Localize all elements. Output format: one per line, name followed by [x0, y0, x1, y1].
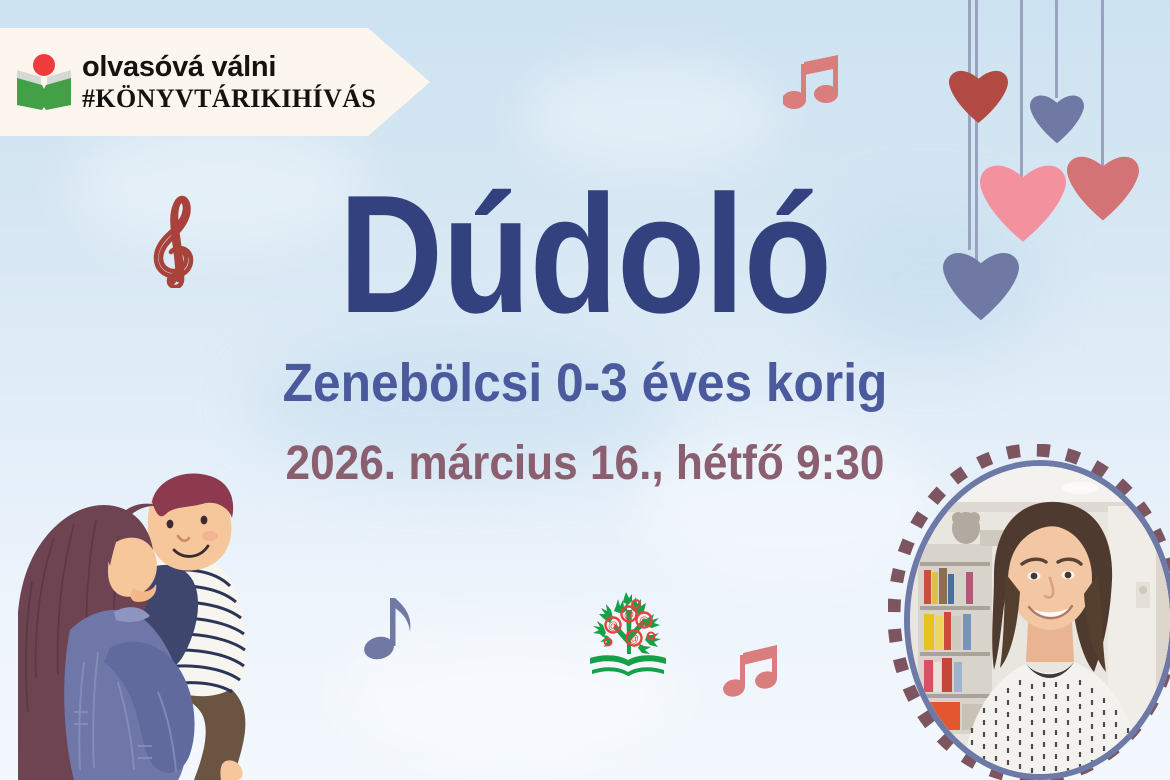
svg-text:@: @ — [624, 610, 634, 621]
treble-clef-dot — [168, 276, 176, 284]
treble-clef-path — [156, 198, 191, 287]
poster-canvas: olvasóvá válni #KÖNYVTÁRIKIHÍVÁS Dúdoló … — [0, 0, 1170, 780]
svg-text:@: @ — [639, 616, 649, 627]
heart-string — [1020, 0, 1023, 178]
child-foot — [220, 760, 242, 780]
heart-dark-red — [949, 71, 1008, 123]
music-note-beamed-bottom — [722, 641, 784, 708]
note-head-left — [783, 91, 806, 109]
presenter-photo — [888, 444, 1170, 780]
music-note-beamed-top — [783, 52, 845, 119]
tree-book-base — [592, 667, 664, 676]
tree-book — [590, 655, 666, 666]
music-note-single-left — [362, 592, 424, 669]
note-flag — [395, 598, 410, 632]
note-stem — [390, 598, 396, 646]
child-cheek — [202, 531, 218, 541]
heart-string — [1101, 0, 1104, 168]
page-title: Dúdoló — [82, 176, 1088, 332]
heart-slate-small — [1030, 96, 1084, 144]
challenge-banner: olvasóvá válni #KÖNYVTÁRIKIHÍVÁS — [0, 28, 430, 136]
library-tree-logo: @ @ @ @ — [586, 592, 672, 680]
banner-text-block: olvasóvá válni #KÖNYVTÁRIKIHÍVÁS — [82, 52, 376, 112]
book-body — [17, 78, 71, 110]
open-book-icon — [14, 50, 74, 114]
banner-line2: #KÖNYVTÁRIKIHÍVÁS — [82, 85, 376, 112]
note-beam — [743, 645, 777, 665]
heart-string — [1055, 0, 1058, 98]
note-beam — [804, 55, 838, 75]
svg-text:@: @ — [629, 634, 639, 645]
photo-image — [910, 466, 1170, 774]
banner-line1: olvasóvá válni — [82, 52, 376, 82]
cloud-texture — [520, 60, 780, 170]
book-dot — [33, 54, 55, 76]
child-eye-right — [201, 516, 208, 525]
child-eye-left — [167, 520, 174, 529]
page-subtitle: Zenebölcsi 0-3 éves korig — [47, 352, 1123, 414]
photo-ring — [904, 460, 1170, 780]
note-head-right — [814, 85, 838, 103]
mother-and-child-illustration — [18, 462, 298, 780]
treble-clef-icon — [148, 192, 208, 293]
svg-text:@: @ — [608, 621, 618, 632]
